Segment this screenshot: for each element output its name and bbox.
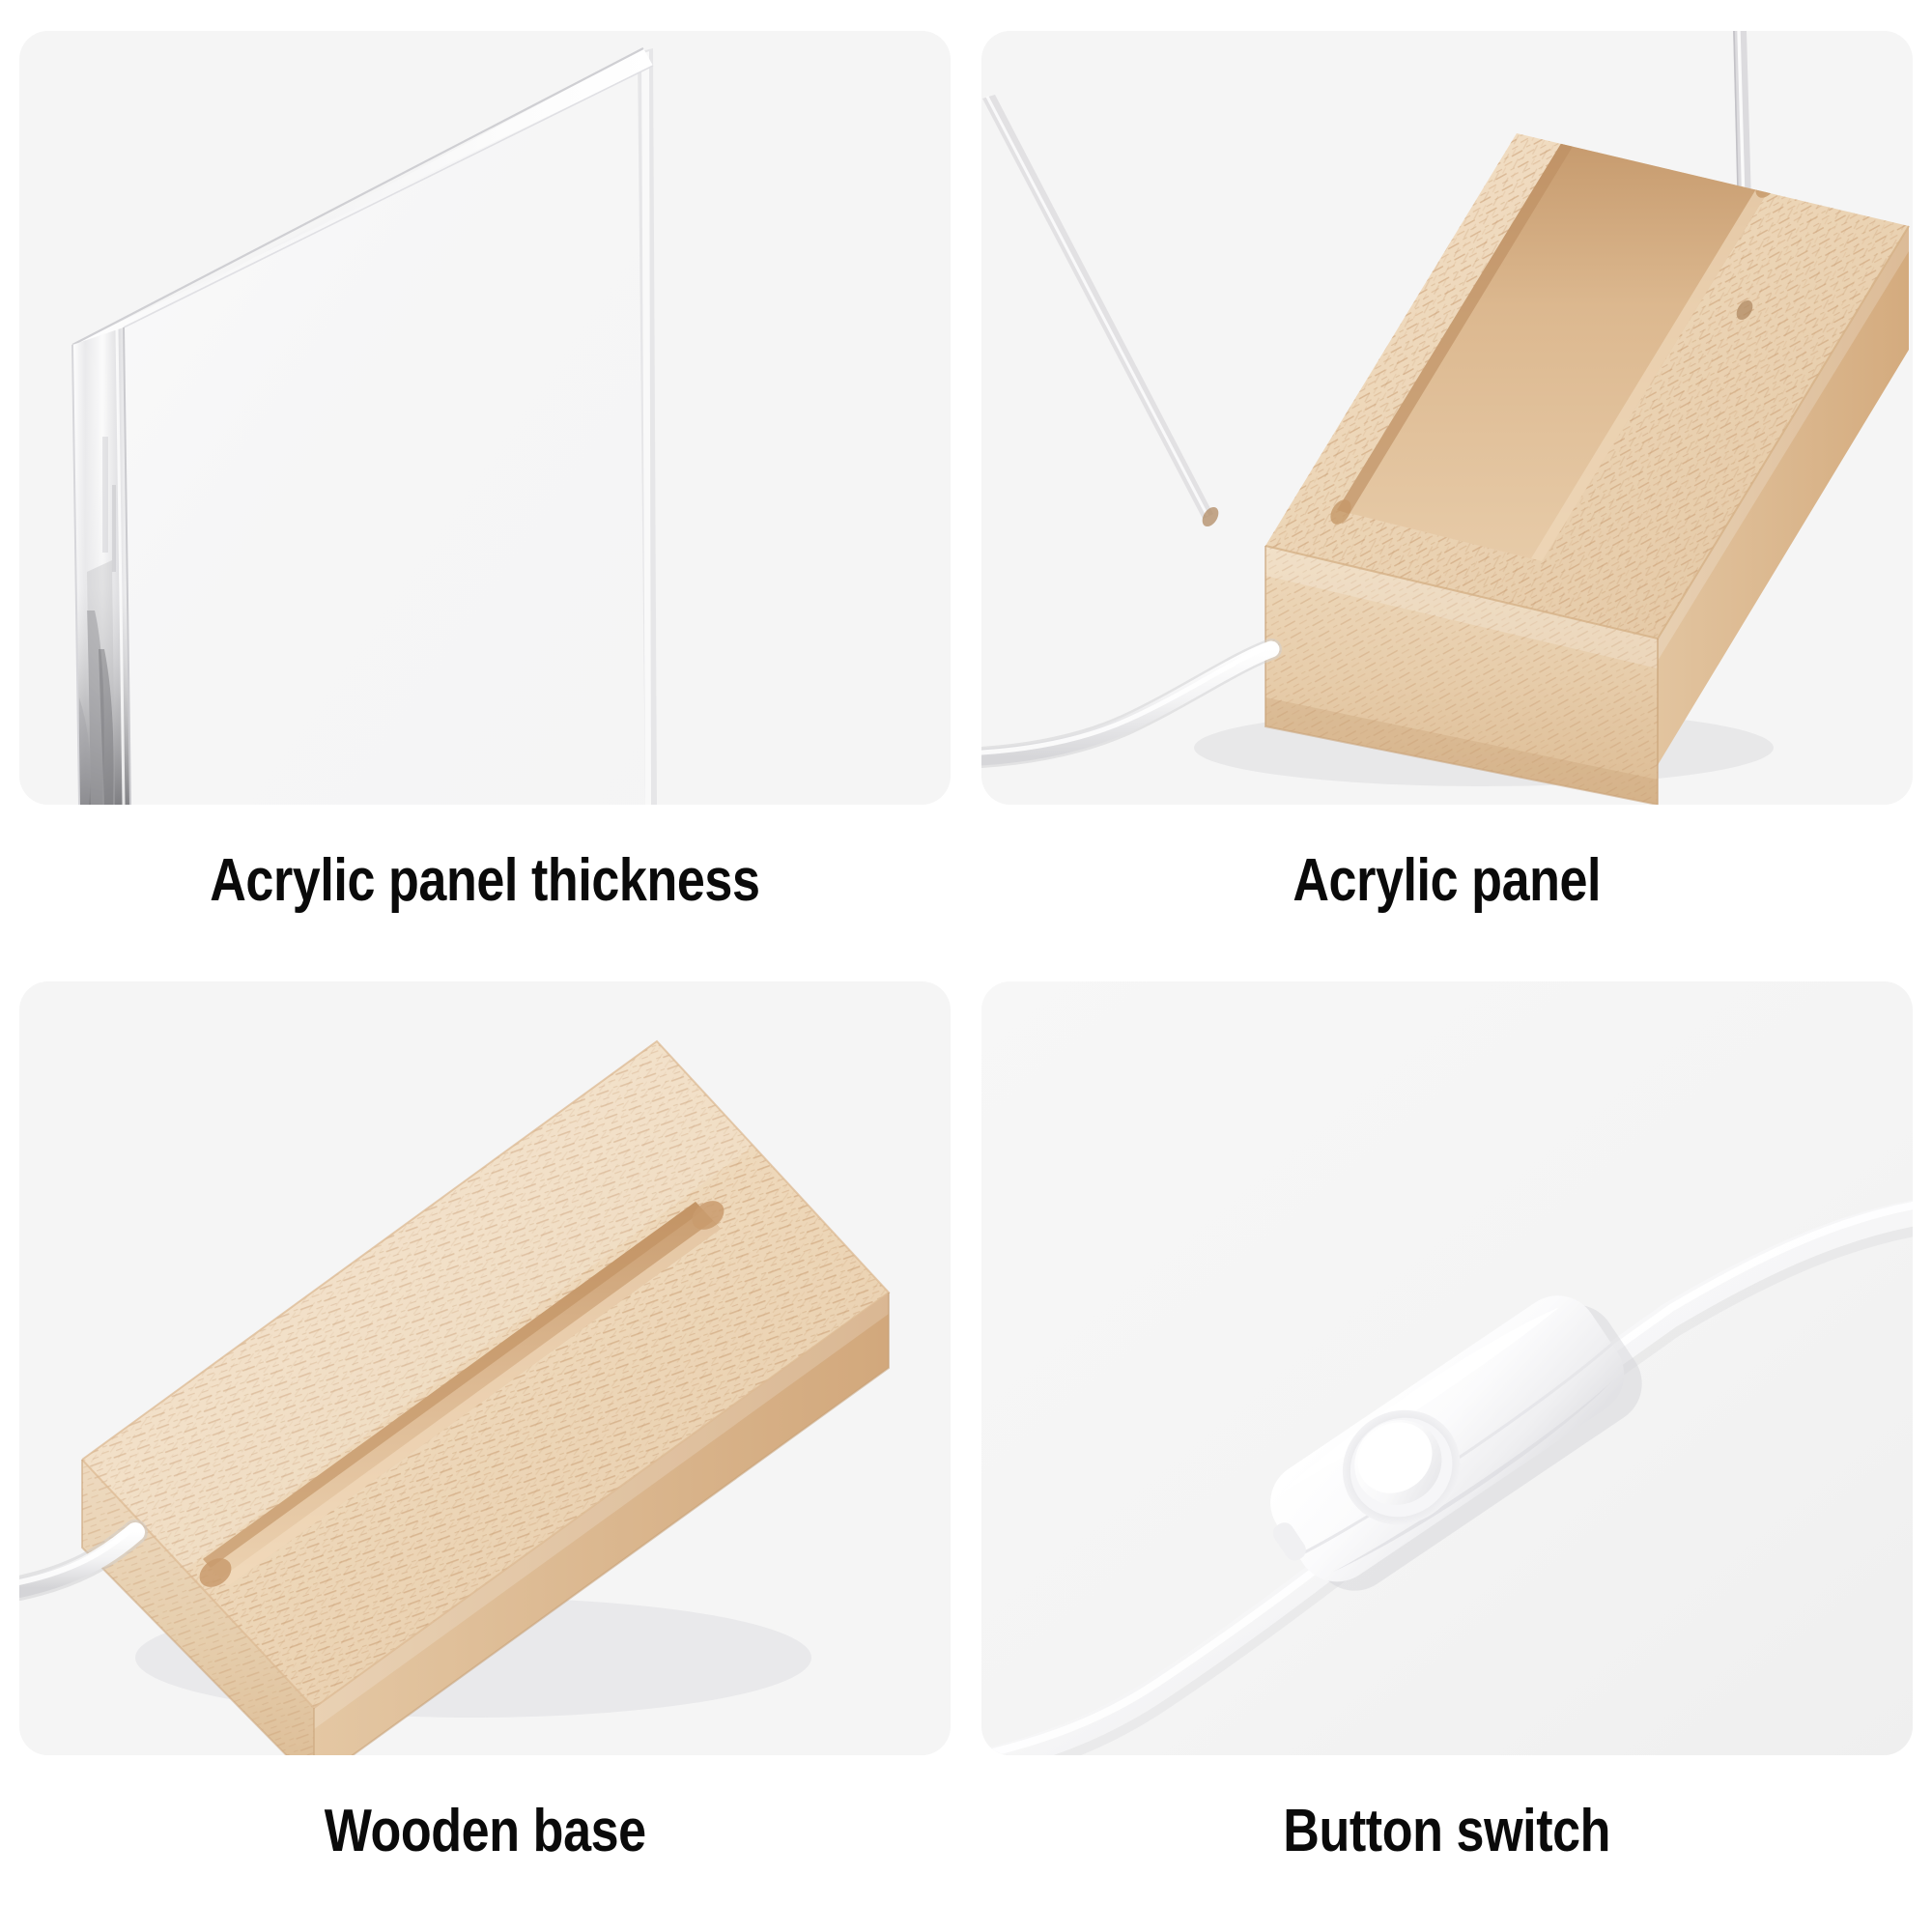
wooden-base-illustration	[19, 981, 951, 1755]
feature-cell-acrylic-panel[interactable]: Acrylic panel	[981, 31, 1913, 966]
caption-acrylic-panel: Acrylic panel	[1293, 851, 1602, 911]
caption-button-switch: Button switch	[1284, 1802, 1611, 1861]
photo-acrylic-panel-thickness	[19, 31, 951, 805]
feature-cell-acrylic-panel-thickness[interactable]: Acrylic panel thickness	[19, 31, 951, 966]
photo-wooden-base	[19, 981, 951, 1755]
caption-wooden-base: Wooden base	[324, 1802, 645, 1861]
feature-grid: Acrylic panel thickness	[0, 0, 1932, 1932]
acrylic-panel-in-base-illustration	[981, 31, 1913, 805]
button-switch-illustration	[981, 981, 1913, 1755]
feature-cell-button-switch[interactable]: Button switch	[981, 981, 1913, 1917]
photo-acrylic-panel	[981, 31, 1913, 805]
acrylic-thickness-illustration	[19, 31, 951, 805]
photo-button-switch	[981, 981, 1913, 1755]
feature-cell-wooden-base[interactable]: Wooden base	[19, 981, 951, 1917]
caption-acrylic-panel-thickness: Acrylic panel thickness	[210, 851, 759, 911]
